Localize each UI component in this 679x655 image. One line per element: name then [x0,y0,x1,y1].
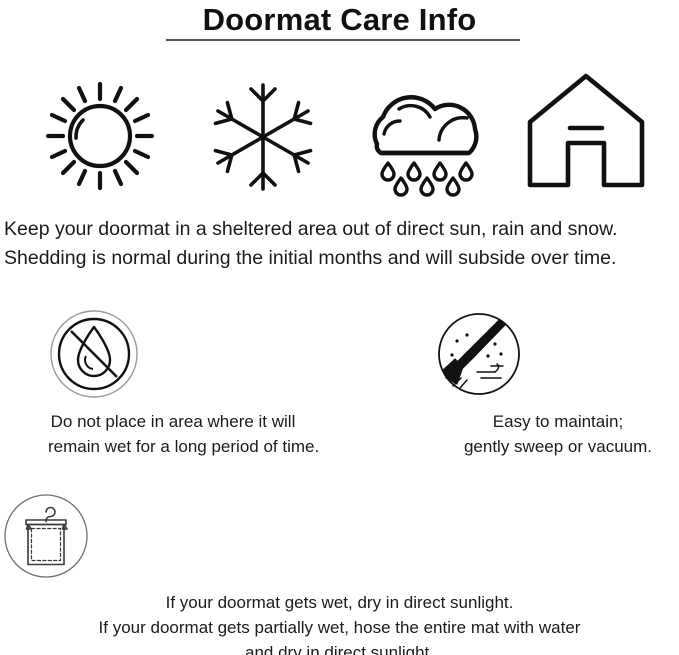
broom-sweep-icon [433,308,679,400]
care-items-row: Do not place in area where it will remai… [0,308,679,468]
hang-dry-icon [0,490,679,582]
no-water-line-1: Do not place in area where it will [48,409,298,434]
care-item-sweep: Easy to maintain; gently sweep or vacuum… [433,308,679,459]
doormat-care-info-page: Doormat Care Info [0,0,679,655]
care-caption-sweep: Easy to maintain; gently sweep or vacuum… [433,409,679,459]
care-item-dry: If your doormat gets wet, dry in direct … [0,490,679,655]
house-icon [520,68,655,198]
care-caption-no-water: Do not place in area where it will remai… [48,409,298,459]
weather-icon-row [0,68,679,198]
intro-line-2: Shedding is normal during the initial mo… [4,244,679,273]
title-block: Doormat Care Info [0,0,679,38]
dry-line-1: If your doormat gets wet, dry in direct … [0,590,679,615]
rain-cloud-icon [355,68,495,198]
title-underline-rule [166,39,520,41]
intro-line-1: Keep your doormat in a sheltered area ou… [4,215,679,244]
sweep-line-1: Easy to maintain; [433,409,679,434]
intro-paragraph: Keep your doormat in a sheltered area ou… [4,215,679,273]
sweep-line-2: gently sweep or vacuum. [433,434,679,459]
dry-line-2: If your doormat gets partially wet, hose… [0,615,679,640]
care-caption-dry: If your doormat gets wet, dry in direct … [0,590,679,655]
no-water-line-2: remain wet for a long period of time. [48,434,298,459]
snowflake-icon [198,68,328,198]
sun-icon [40,68,165,198]
care-item-no-water: Do not place in area where it will remai… [48,308,298,459]
dry-line-3: and dry in direct sunlight. [0,640,679,655]
page-title: Doormat Care Info [0,0,679,38]
no-water-icon [48,308,298,400]
